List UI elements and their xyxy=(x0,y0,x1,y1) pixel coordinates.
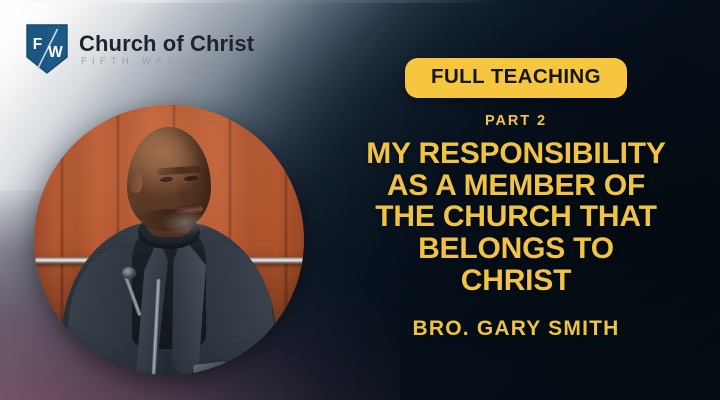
sermon-title-line-5: CHRIST xyxy=(316,265,716,297)
sermon-title-line-2: AS A MEMBER OF xyxy=(316,170,716,202)
sermon-title-line-1: MY RESPONSIBILITY xyxy=(316,138,716,170)
portrait-nose xyxy=(179,183,195,203)
title-block: FULL TEACHING PART 2 MY RESPONSIBILITY A… xyxy=(312,0,720,400)
part-label: PART 2 xyxy=(485,114,547,129)
brand-logo: F W Church of Christ FIFTH WARD xyxy=(26,24,254,74)
brand-subtitle: FIFTH WARD xyxy=(79,57,254,67)
microphone-capsule-icon xyxy=(122,267,136,279)
sermon-title-line-4: BELONGS TO xyxy=(316,233,716,265)
portrait-eye-left xyxy=(160,176,173,182)
full-teaching-badge[interactable]: FULL TEACHING xyxy=(405,58,627,98)
video-thumbnail-stage: F W Church of Christ FIFTH WARD xyxy=(0,0,720,400)
sermon-title: MY RESPONSIBILITY AS A MEMBER OF THE CHU… xyxy=(316,138,716,296)
portrait-ear xyxy=(129,171,142,193)
speaker-portrait xyxy=(34,105,304,375)
brand-logo-text: Church of Christ FIFTH WARD xyxy=(79,32,254,67)
shield-badge-fw-icon: F W xyxy=(26,24,68,74)
portrait-jaw-shadow xyxy=(136,209,202,235)
svg-text:W: W xyxy=(48,44,63,61)
svg-text:F: F xyxy=(33,36,42,53)
portrait-eye-right xyxy=(184,175,198,181)
sermon-title-line-3: THE CHURCH THAT xyxy=(316,201,716,233)
brand-title: Church of Christ xyxy=(79,32,254,55)
portrait-brow xyxy=(157,165,201,175)
speaker-name: BRO. GARY SMITH xyxy=(412,318,619,339)
